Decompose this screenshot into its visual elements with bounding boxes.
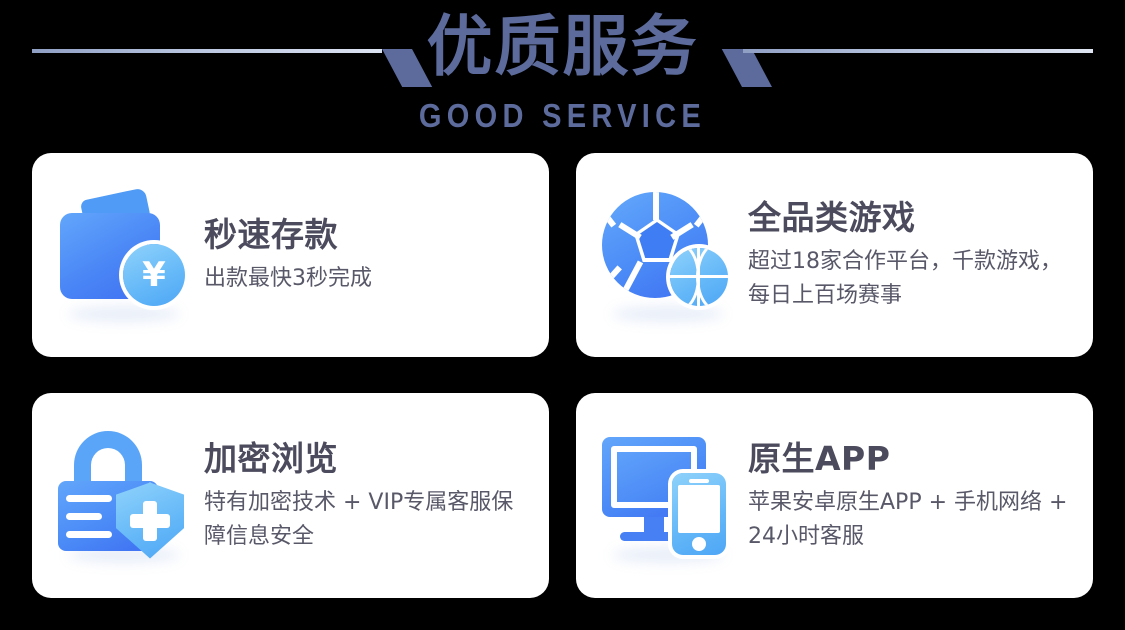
soccer-seam [623, 260, 643, 291]
phone-speaker-icon [689, 479, 709, 483]
basketball-curve-right [696, 248, 728, 306]
card-description: 特有加密技术 + VIP专属客服保障信息安全 [204, 486, 533, 554]
card-title: 全品类游戏 [748, 197, 1077, 239]
soccer-seam [602, 206, 616, 227]
page-title: 优质服务 [0, 6, 1125, 88]
feature-card-grid: ¥ 秒速存款 出款最快3秒完成 [32, 153, 1093, 598]
icon-shadow [612, 306, 724, 322]
card-text-block: 秒速存款 出款最快3秒完成 [200, 214, 549, 296]
page-subtitle: GOOD SERVICE [68, 97, 1058, 135]
card-description: 苹果安卓原生APP + 手机网络 + 24小时客服 [748, 486, 1077, 554]
monitor-phone-icon [598, 423, 744, 569]
card-text-block: 全品类游戏 超过18家合作平台，千款游戏，每日上百场赛事 [744, 197, 1093, 313]
lock-dash [66, 495, 112, 502]
card-description: 出款最快3秒完成 [204, 262, 533, 296]
soccer-seam [653, 192, 659, 220]
lock-shield-icon [54, 423, 200, 569]
icon-shadow [68, 306, 180, 322]
phone-home-button-icon [692, 537, 706, 551]
shield-plus-icon [130, 514, 170, 528]
feature-card-encrypted-browsing[interactable]: 加密浏览 特有加密技术 + VIP专属客服保障信息安全 [32, 393, 549, 598]
feature-card-all-games[interactable]: 全品类游戏 超过18家合作平台，千款游戏，每日上百场赛事 [576, 153, 1093, 357]
lock-dash [66, 531, 112, 538]
phone-screen-icon [678, 485, 720, 533]
card-title: 秒速存款 [204, 214, 533, 256]
feature-card-native-app[interactable]: 原生APP 苹果安卓原生APP + 手机网络 + 24小时客服 [576, 393, 1093, 598]
card-title: 原生APP [748, 438, 1077, 480]
page-header: 优质服务 GOOD SERVICE [0, 0, 1125, 150]
soccer-seam [670, 222, 694, 240]
lock-dash [66, 513, 102, 520]
monitor-stand-neck-icon [644, 517, 664, 534]
card-text-block: 加密浏览 特有加密技术 + VIP专属客服保障信息安全 [200, 438, 549, 554]
basketball-icon [670, 248, 728, 306]
card-description: 超过18家合作平台，千款游戏，每日上百场赛事 [748, 245, 1077, 313]
wallet-yen-icon: ¥ [54, 182, 200, 328]
soccer-seam [694, 206, 708, 227]
card-title: 加密浏览 [204, 438, 533, 480]
yen-symbol: ¥ [123, 244, 185, 306]
card-text-block: 原生APP 苹果安卓原生APP + 手机网络 + 24小时客服 [744, 438, 1093, 554]
soccer-basketball-icon [598, 182, 744, 328]
feature-card-fast-deposit[interactable]: ¥ 秒速存款 出款最快3秒完成 [32, 153, 549, 357]
soccer-seam [602, 265, 622, 288]
